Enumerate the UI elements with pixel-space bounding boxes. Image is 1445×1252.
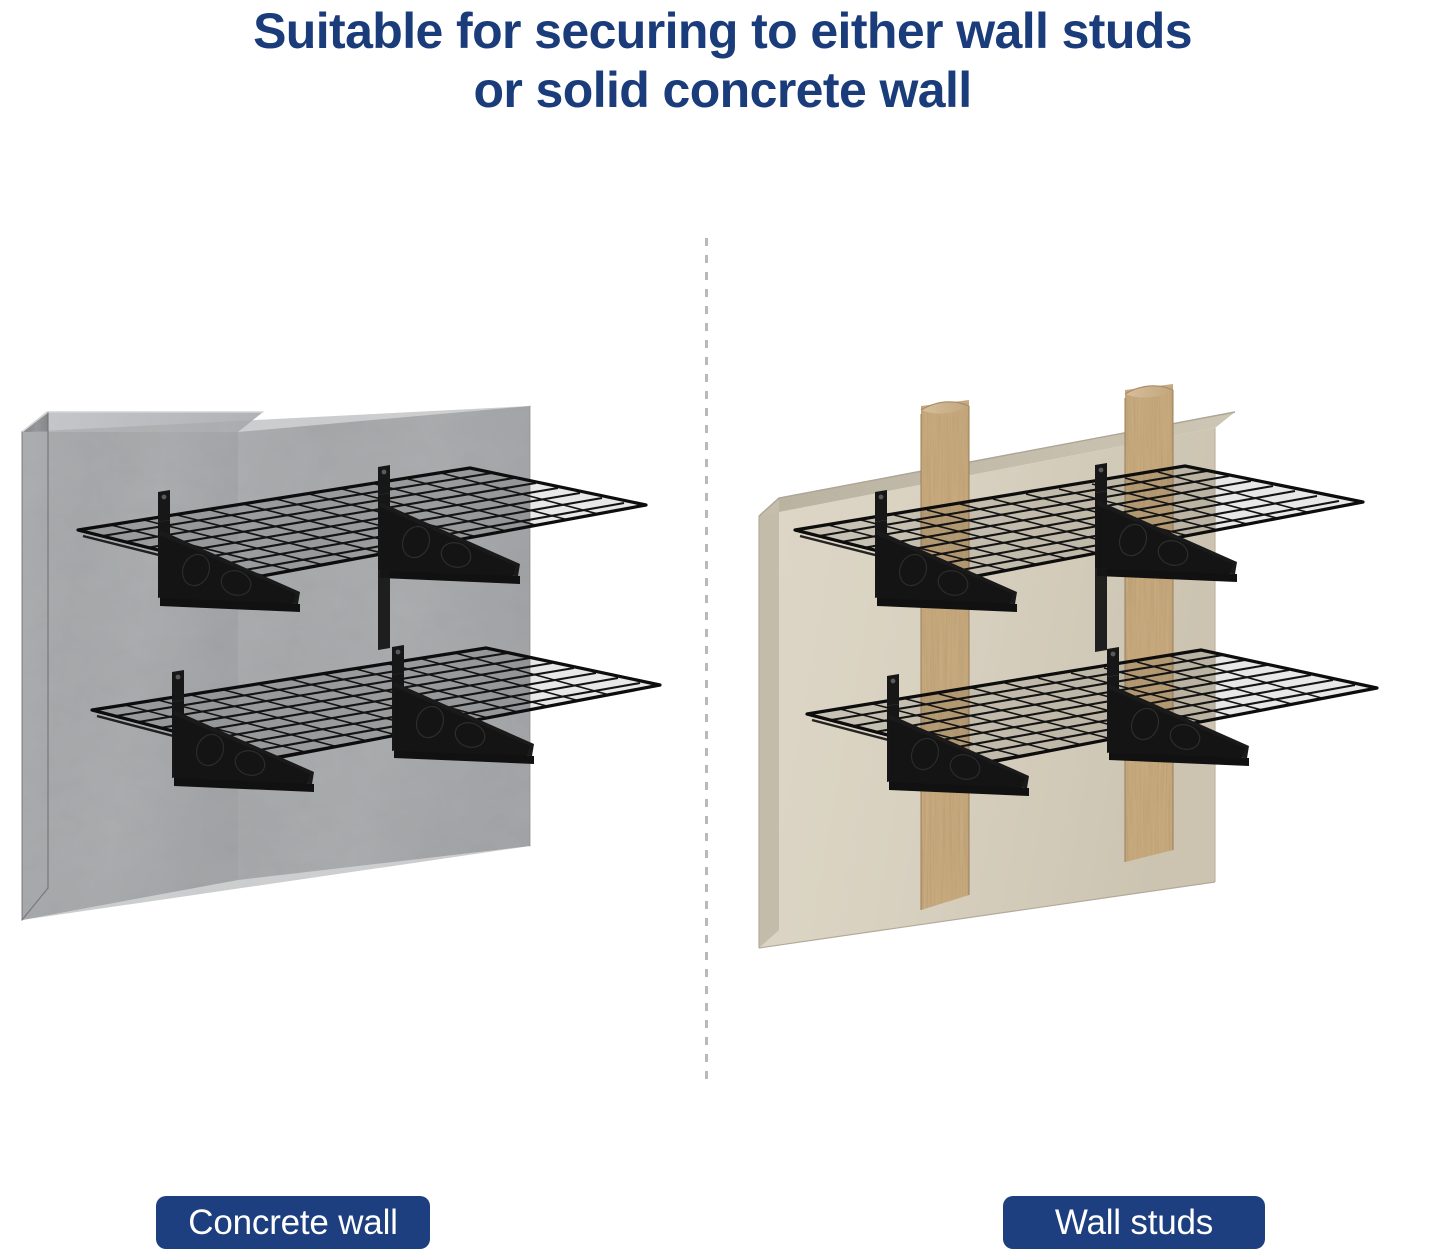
page-title: Suitable for securing to either wall stu… bbox=[0, 2, 1445, 119]
panel-divider bbox=[705, 238, 708, 1083]
wall-stud bbox=[1125, 374, 1173, 874]
label-concrete-wall: Concrete wall bbox=[156, 1196, 430, 1249]
illustration-concrete-wall bbox=[0, 380, 700, 980]
label-wall-studs: Wall studs bbox=[1003, 1196, 1265, 1249]
infographic-page: Suitable for securing to either wall stu… bbox=[0, 0, 1445, 1252]
illustration-wall-studs bbox=[745, 370, 1445, 980]
wall-stud bbox=[921, 390, 969, 920]
